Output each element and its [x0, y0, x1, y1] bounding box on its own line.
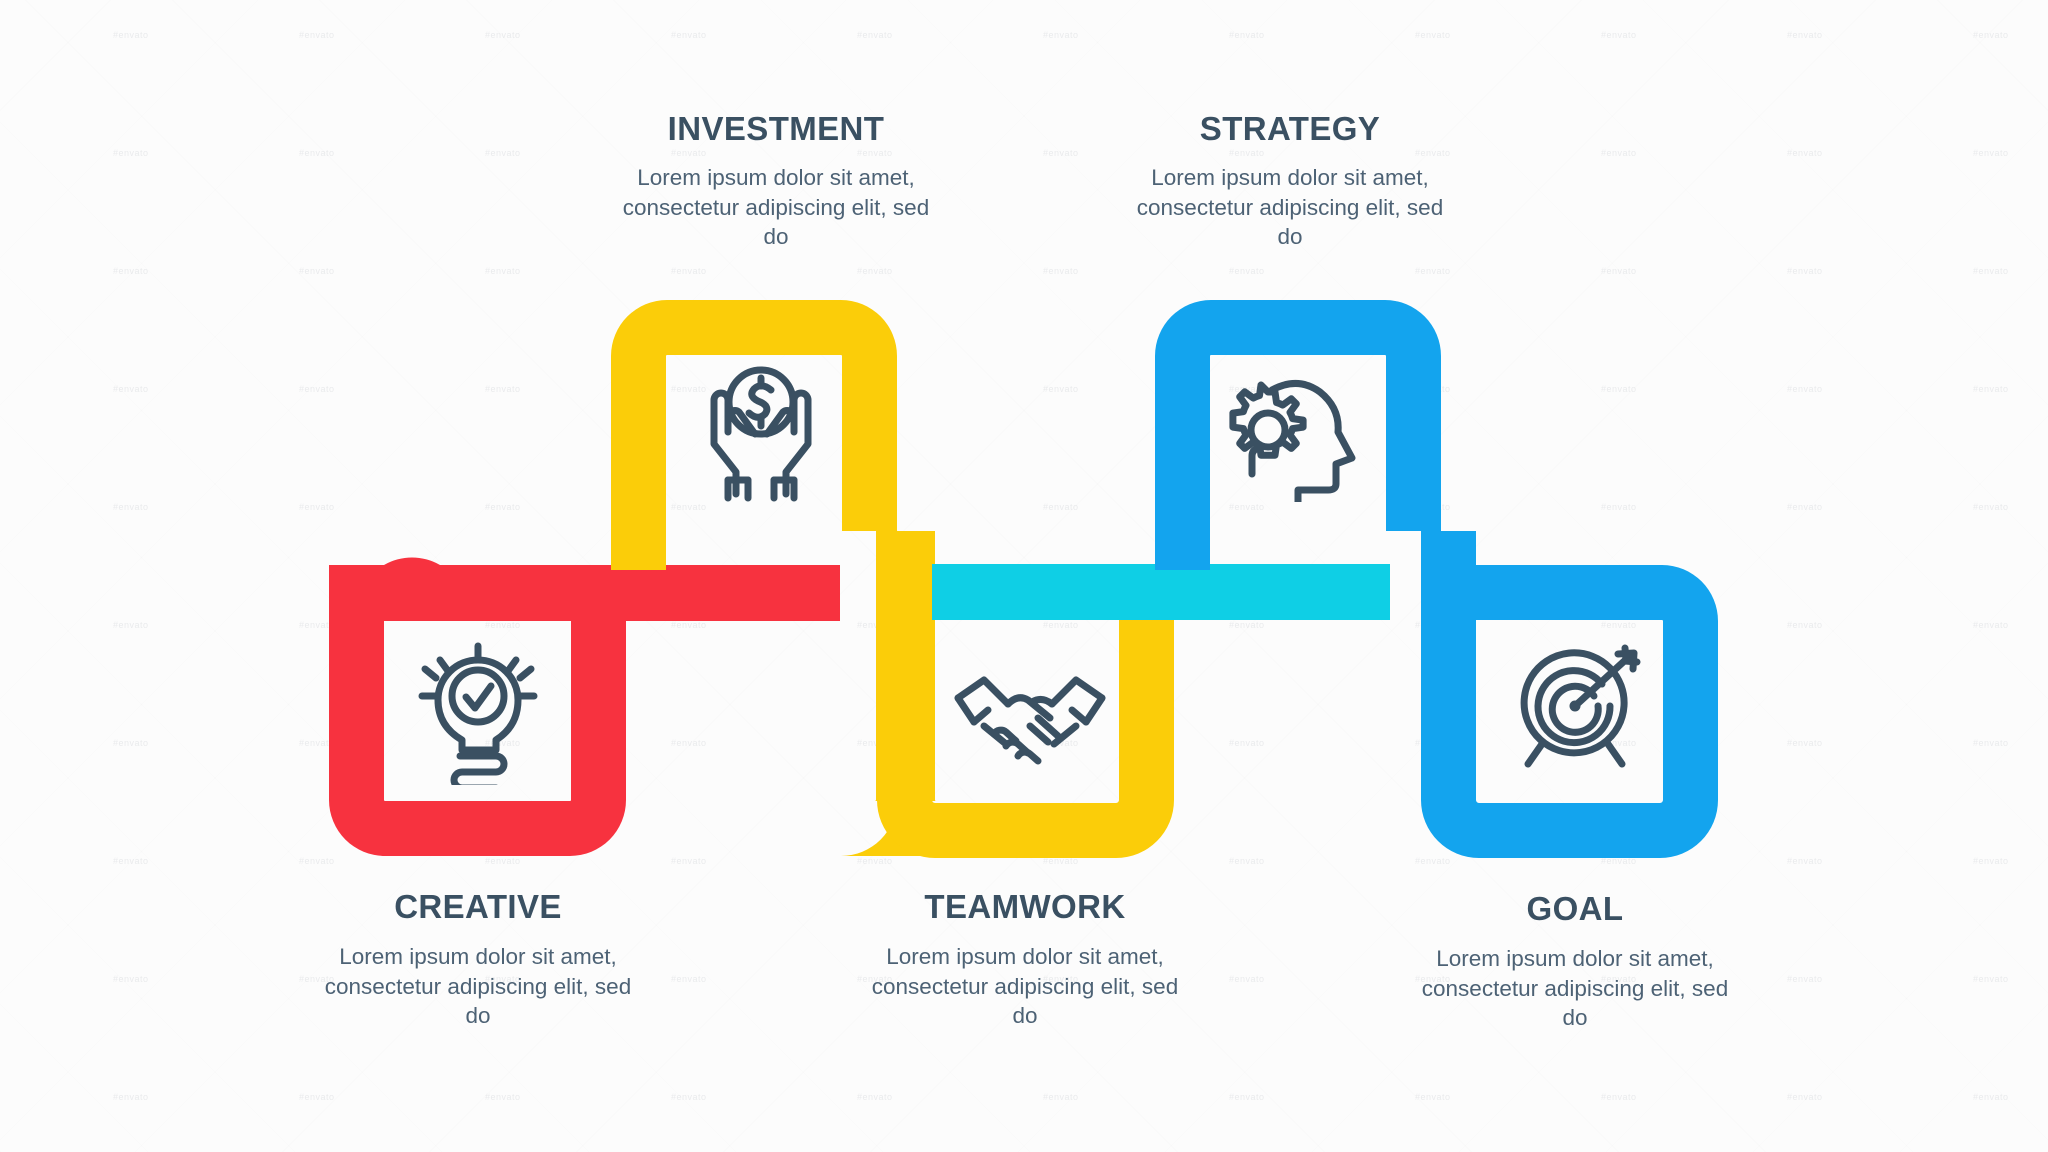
step-label-teamwork: TEAMWORK Lorem ipsum dolor sit amet, con… — [825, 890, 1225, 1031]
lightbulb-check-icon — [414, 640, 554, 785]
step-label-goal: GOAL Lorem ipsum dolor sit amet, consect… — [1375, 892, 1775, 1033]
ribbon-cyan-connector — [932, 564, 1390, 620]
step-title-goal: GOAL — [1375, 892, 1775, 927]
step-title-strategy: STRATEGY — [1090, 112, 1490, 147]
ribbon-creative-red-bar — [384, 565, 840, 621]
target-arrow-icon — [1514, 640, 1654, 780]
step-title-creative: CREATIVE — [278, 890, 678, 925]
ribbon-creative-red-joint — [329, 565, 384, 625]
ribbon-strategy-blue-left-leg — [1155, 520, 1210, 570]
step-description-teamwork: Lorem ipsum dolor sit amet, consectetur … — [825, 942, 1225, 1032]
handshake-icon — [950, 660, 1110, 770]
hands-holding-money-icon — [686, 362, 836, 502]
step-description-investment: Lorem ipsum dolor sit amet, consectetur … — [576, 163, 976, 253]
step-label-creative: CREATIVE Lorem ipsum dolor sit amet, con… — [278, 890, 678, 1031]
step-label-investment: INVESTMENT Lorem ipsum dolor sit amet, c… — [576, 112, 976, 252]
head-with-gear-icon — [1228, 372, 1368, 502]
step-description-strategy: Lorem ipsum dolor sit amet, consectetur … — [1090, 163, 1490, 253]
step-label-strategy: STRATEGY Lorem ipsum dolor sit amet, con… — [1090, 112, 1490, 252]
step-description-creative: Lorem ipsum dolor sit amet, consectetur … — [278, 942, 678, 1032]
step-title-teamwork: TEAMWORK — [825, 890, 1225, 925]
ribbon-investment-yellow-left-leg — [611, 520, 666, 570]
step-description-goal: Lorem ipsum dolor sit amet, consectetur … — [1375, 944, 1775, 1034]
step-title-investment: INVESTMENT — [576, 112, 976, 147]
infographic-canvas: #envato#envato#envato#envato#envato#enva… — [0, 0, 2048, 1152]
